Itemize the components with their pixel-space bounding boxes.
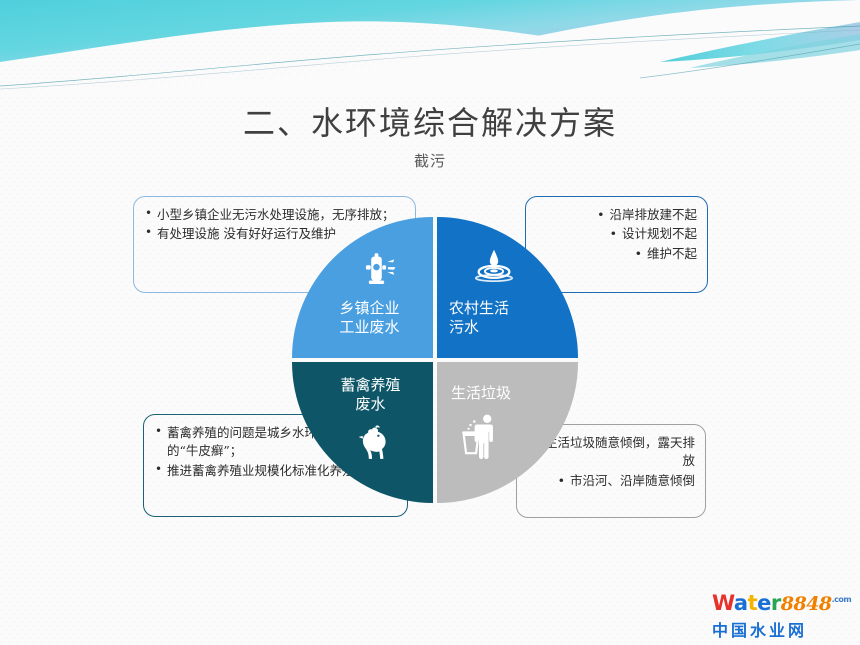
logo-letter-w: W <box>712 591 734 615</box>
list-item-text: 沿岸排放建不起 <box>609 207 697 222</box>
quadrant-label: 蓄禽养殖 废水 <box>324 376 400 414</box>
list-item-text: 市沿河、沿岸随意倾倒 <box>570 473 695 488</box>
page-subtitle: 截污 <box>0 150 860 171</box>
quadrant-township-industrial-wastewater[interactable]: 乡镇企业 工业废水 <box>292 217 433 358</box>
bullet-dot: • <box>610 226 617 241</box>
fire-hydrant-icon <box>353 247 399 293</box>
logo-letter-r: r <box>771 591 781 615</box>
list-item-text: 设计规划不起 <box>622 226 697 241</box>
logo-letter-a: a <box>734 591 748 615</box>
quadrant-domestic-garbage[interactable]: 生活垃圾 <box>437 362 578 503</box>
water-droplet-icon <box>471 245 517 291</box>
water8848-logo: Water8848.com 中国水业网 <box>712 593 852 641</box>
title-block: 二、水环境综合解决方案 截污 <box>0 104 860 171</box>
quadrant-livestock-poultry-wastewater[interactable]: 蓄禽养殖 废水 <box>292 362 433 503</box>
logo-letter-e: e <box>757 591 771 615</box>
quadrant-wheel: 乡镇企业 工业废水 农村生活 污水 蓄 <box>292 217 578 503</box>
litter-bin-icon <box>457 411 507 461</box>
logo-letter-t: t <box>748 591 758 615</box>
bullet-dot: • <box>597 207 604 222</box>
logo-tld: .com <box>832 595 852 604</box>
quadrant-label: 乡镇企业 工业废水 <box>325 299 399 337</box>
slide-canvas: 二、水环境综合解决方案 截污 小型乡镇企业无污水处理设施，无序排放； 有处理设施… <box>0 0 860 645</box>
page-title: 二、水环境综合解决方案 <box>0 104 860 142</box>
chicken-icon <box>351 420 397 466</box>
quadrant-label: 生活垃圾 <box>451 384 511 403</box>
quadrant-label: 农村生活 污水 <box>449 299 509 337</box>
logo-chinese-name: 中国水业网 <box>712 617 852 641</box>
logo-number: 8848 <box>781 593 832 615</box>
header-wave-decoration <box>0 0 860 92</box>
list-item-text: 维护不起 <box>647 246 697 261</box>
logo-wordmark: Water8848.com <box>712 593 852 614</box>
bullet-dot: • <box>635 246 642 261</box>
quadrant-rural-domestic-sewage[interactable]: 农村生活 污水 <box>437 217 578 358</box>
